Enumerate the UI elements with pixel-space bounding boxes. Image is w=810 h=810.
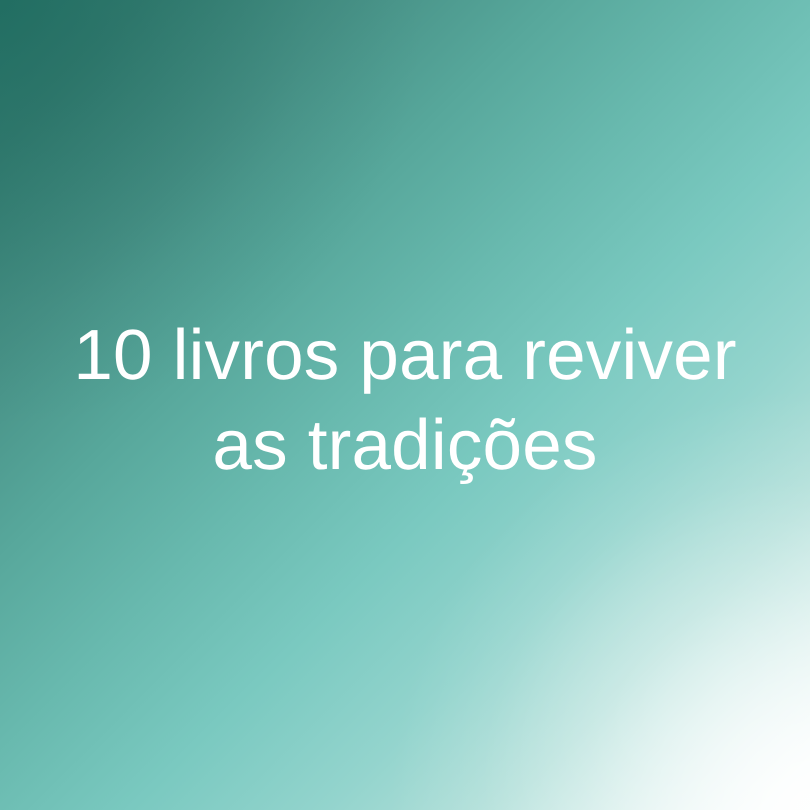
headline-line-2: as tradições [36, 401, 774, 491]
headline-line-1: 10 livros para reviver [36, 311, 774, 401]
graphic-canvas: 10 livros para reviver as tradições [0, 0, 810, 810]
headline: 10 livros para reviver as tradições [0, 311, 810, 491]
